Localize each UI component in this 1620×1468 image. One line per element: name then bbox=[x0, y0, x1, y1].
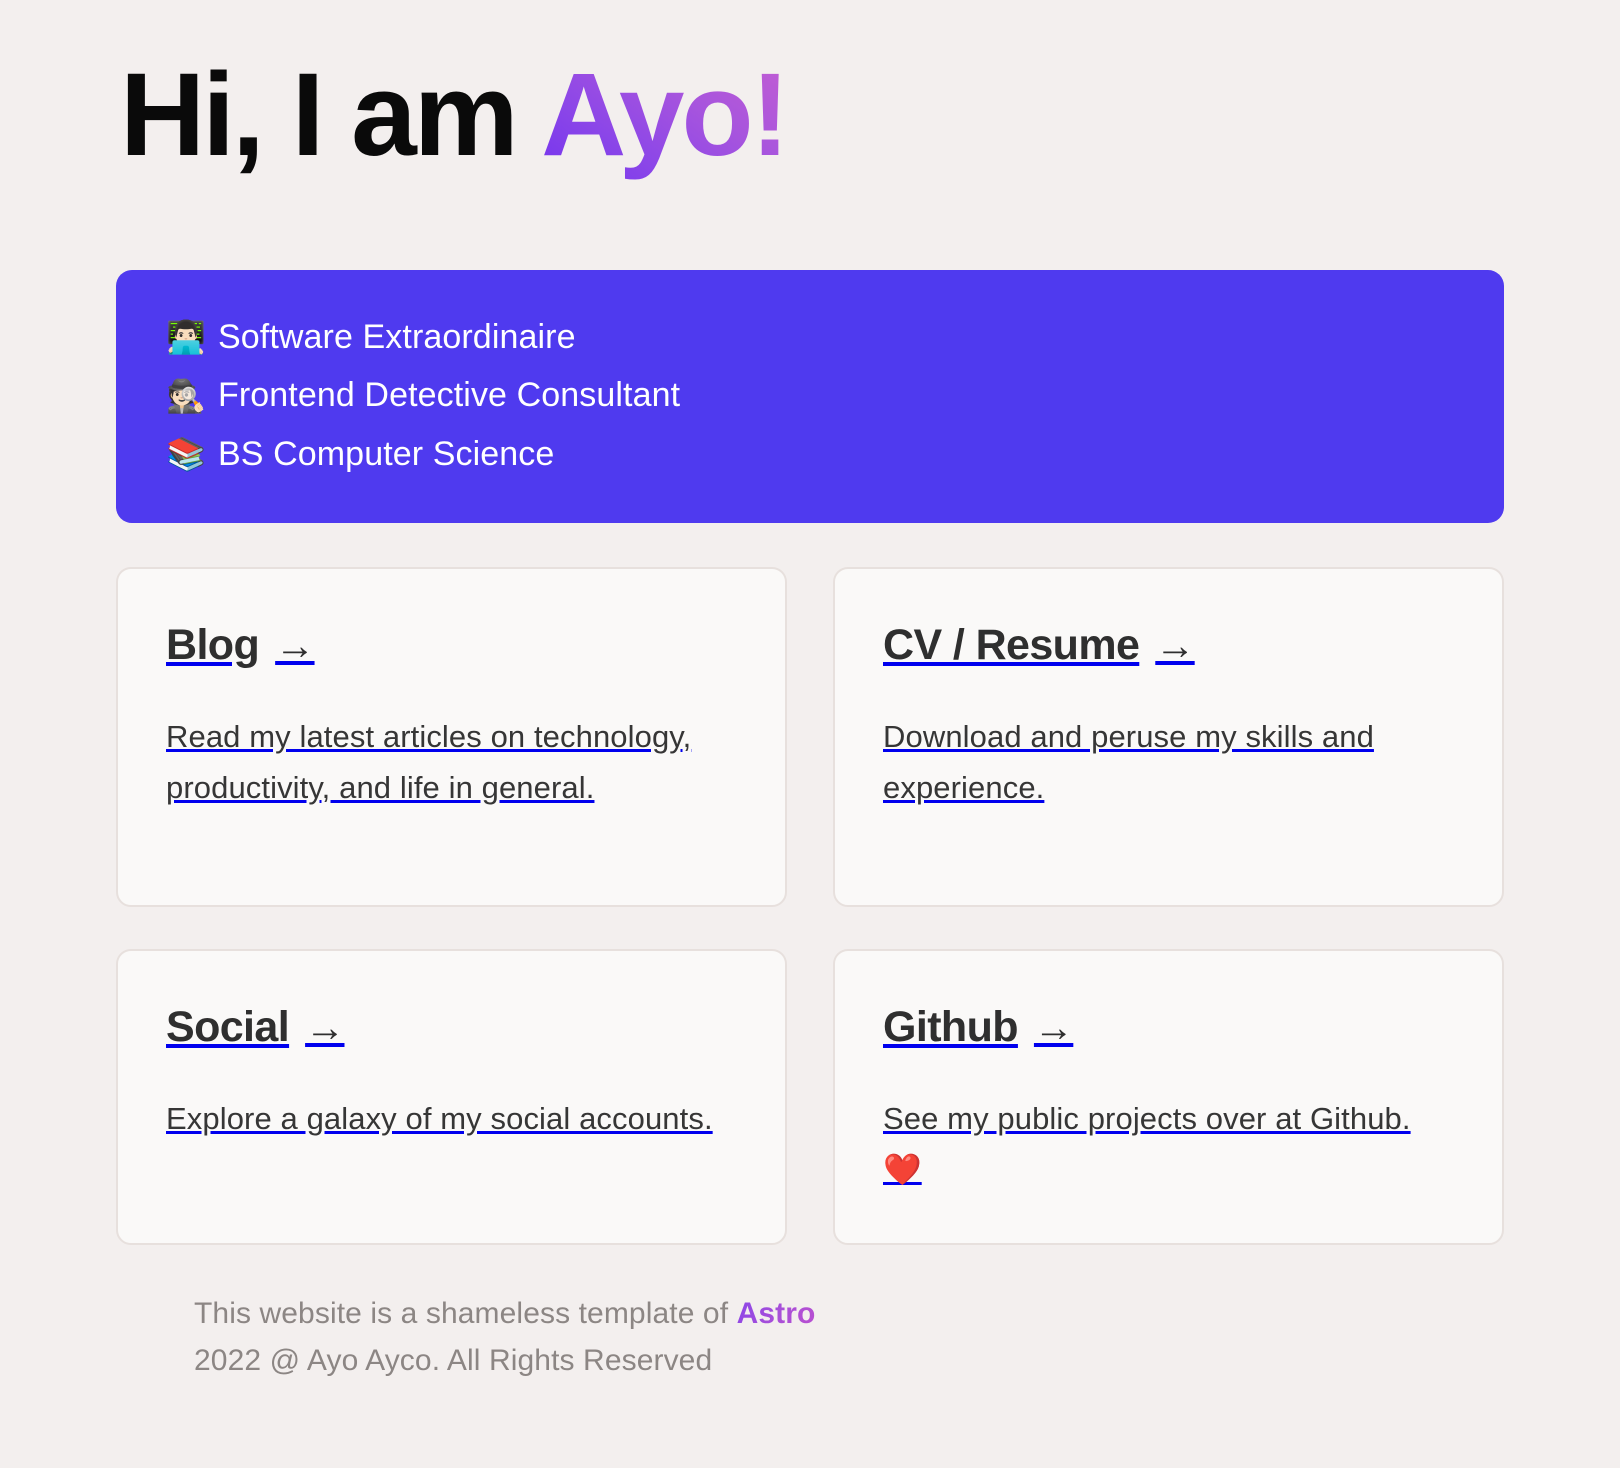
page-title-greeting: Hi, I am bbox=[120, 49, 541, 181]
card-description: Download and peruse my skills and experi… bbox=[883, 712, 1454, 812]
card-title: CV / Resume → bbox=[883, 621, 1454, 670]
card-blog[interactable]: Blog → Read my latest articles on techno… bbox=[116, 567, 787, 907]
page-root: Hi, I am Ayo! 👨🏻‍💻 Software Extraordinai… bbox=[0, 0, 1620, 1468]
card-github[interactable]: Github → See my public projects over at … bbox=[833, 949, 1504, 1245]
card-title: Blog → bbox=[166, 621, 737, 670]
footer-credit-text: This website is a shameless template of bbox=[194, 1297, 737, 1330]
arrow-right-icon: → bbox=[275, 624, 314, 669]
list-item: 👨🏻‍💻 Software Extraordinaire bbox=[166, 308, 1454, 366]
arrow-right-icon: → bbox=[305, 1006, 344, 1051]
footer-copyright: 2022 @ Ayo Ayco. All Rights Reserved bbox=[194, 1338, 1504, 1385]
astro-link[interactable]: Astro bbox=[737, 1297, 816, 1330]
intro-list: 👨🏻‍💻 Software Extraordinaire 🕵🏻 Frontend… bbox=[166, 308, 1454, 483]
books-emoji: 📚 bbox=[166, 438, 204, 470]
card-title-text: Blog bbox=[166, 621, 259, 670]
intro-item-label: Frontend Detective Consultant bbox=[218, 366, 680, 424]
man-technologist-emoji: 👨🏻‍💻 bbox=[166, 321, 204, 353]
list-item: 📚 BS Computer Science bbox=[166, 425, 1454, 483]
card-title: Github → bbox=[883, 1003, 1454, 1052]
arrow-right-icon: → bbox=[1034, 1006, 1073, 1051]
card-description: See my public projects over at Github. ❤… bbox=[883, 1094, 1454, 1194]
page-title: Hi, I am Ayo! bbox=[120, 56, 1504, 174]
card-title-text: Social bbox=[166, 1003, 289, 1052]
footer-credit-line: This website is a shameless template of … bbox=[194, 1291, 1504, 1338]
page-title-name: Ayo! bbox=[541, 49, 787, 181]
card-social[interactable]: Social → Explore a galaxy of my social a… bbox=[116, 949, 787, 1245]
card-description: Read my latest articles on technology, p… bbox=[166, 712, 737, 812]
site-footer: This website is a shameless template of … bbox=[116, 1291, 1504, 1384]
intro-panel: 👨🏻‍💻 Software Extraordinaire 🕵🏻 Frontend… bbox=[116, 270, 1504, 523]
detective-emoji: 🕵🏻 bbox=[166, 380, 204, 412]
card-title-text: Github bbox=[883, 1003, 1018, 1052]
card-cv-resume[interactable]: CV / Resume → Download and peruse my ski… bbox=[833, 567, 1504, 907]
arrow-right-icon: → bbox=[1155, 624, 1194, 669]
card-title-text: CV / Resume bbox=[883, 621, 1139, 670]
list-item: 🕵🏻 Frontend Detective Consultant bbox=[166, 366, 1454, 424]
card-description: Explore a galaxy of my social accounts. bbox=[166, 1094, 737, 1144]
card-title: Social → bbox=[166, 1003, 737, 1052]
link-card-grid: Blog → Read my latest articles on techno… bbox=[116, 567, 1504, 1245]
intro-item-label: Software Extraordinaire bbox=[218, 308, 576, 366]
intro-item-label: BS Computer Science bbox=[218, 425, 554, 483]
